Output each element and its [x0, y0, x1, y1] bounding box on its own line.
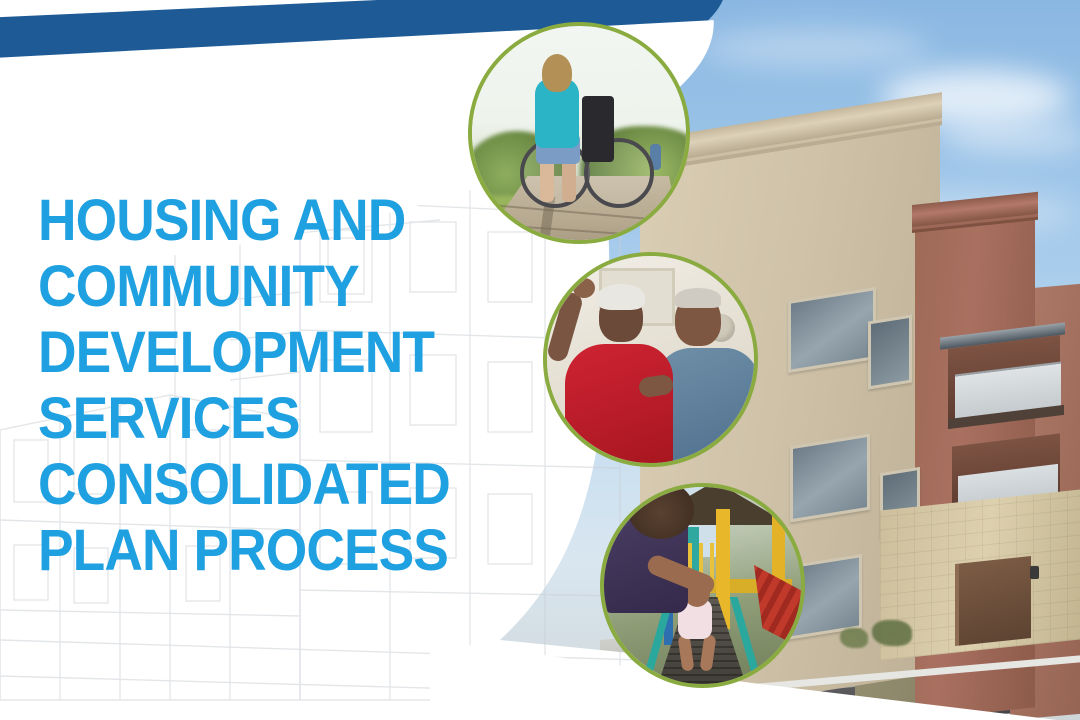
hero-banner: HOUSING AND COMMUNITY DEVELOPMENT SERVIC…: [0, 0, 1080, 720]
photo-circle-wheelchair: [468, 22, 690, 244]
window: [788, 287, 876, 373]
window: [868, 315, 912, 390]
caregiver-hair: [542, 54, 572, 92]
entry-light-fixture: [1030, 566, 1039, 579]
man-hair: [675, 288, 721, 308]
headline-line-1: HOUSING AND: [38, 188, 498, 254]
headline-line-6: PLAN PROCESS: [38, 518, 498, 584]
woman-hair: [597, 284, 645, 310]
headline-line-4: SERVICES: [38, 386, 498, 452]
woman-torso-red-top: [565, 344, 673, 467]
wheelchair-backrest: [582, 96, 614, 162]
cloud-shape: [700, 28, 930, 68]
photo-circle-playground: [600, 483, 805, 688]
mother-hair: [628, 483, 694, 539]
headline-line-3: DEVELOPMENT: [38, 320, 498, 386]
page-title: HOUSING AND COMMUNITY DEVELOPMENT SERVIC…: [38, 188, 538, 584]
shrub: [872, 620, 912, 646]
woman-hand: [573, 278, 595, 298]
building-entry-door: [955, 556, 1031, 646]
cloud-shape: [940, 120, 1080, 154]
photo-circle-senior-couple: [543, 252, 758, 467]
headline-line-5: CONSOLIDATED: [38, 452, 498, 518]
headline-line-2: COMMUNITY: [38, 254, 498, 320]
window: [790, 434, 870, 523]
shrub: [840, 628, 868, 648]
